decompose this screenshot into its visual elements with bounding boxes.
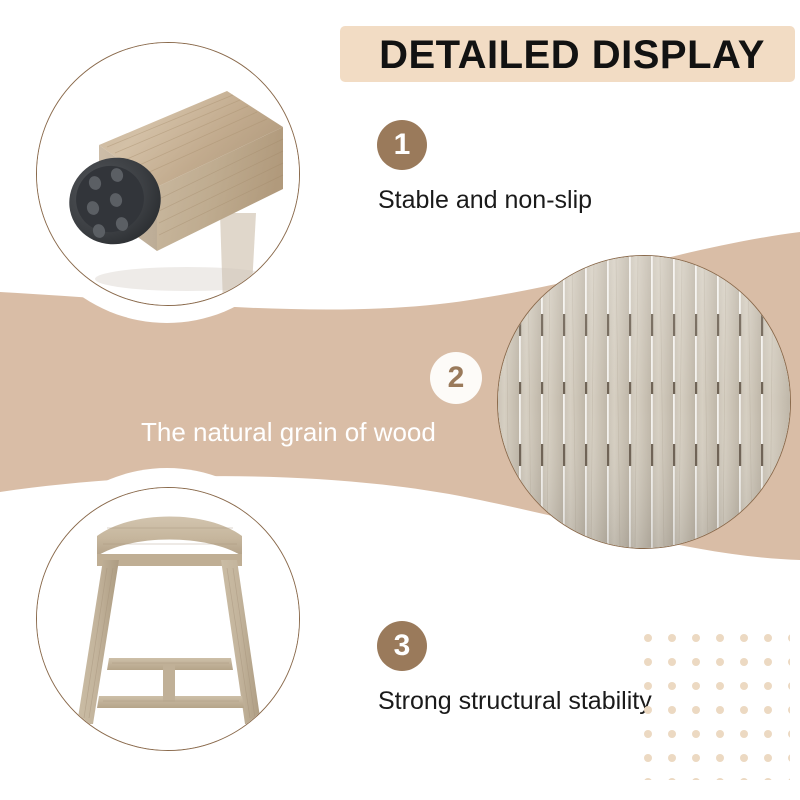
dot-grid-decoration	[642, 632, 790, 780]
feature-caption-3: Strong structural stability	[378, 687, 652, 716]
feature-image-3-table-frame	[36, 487, 300, 751]
feature-caption-2: The natural grain of wood	[141, 417, 436, 448]
feature-badge-3: 3	[377, 621, 427, 671]
feature-badge-2: 2	[430, 352, 482, 404]
feature-image-1-leg-foot-pad	[36, 42, 300, 306]
feature-image-2-wood-slat-top	[497, 255, 791, 549]
feature-badge-1: 1	[377, 120, 427, 170]
feature-caption-1: Stable and non-slip	[378, 186, 592, 215]
detailed-display-page: DETAILED DISPLAY 1 Stable and non-slip 2…	[0, 0, 800, 800]
page-title: DETAILED DISPLAY	[352, 30, 792, 80]
